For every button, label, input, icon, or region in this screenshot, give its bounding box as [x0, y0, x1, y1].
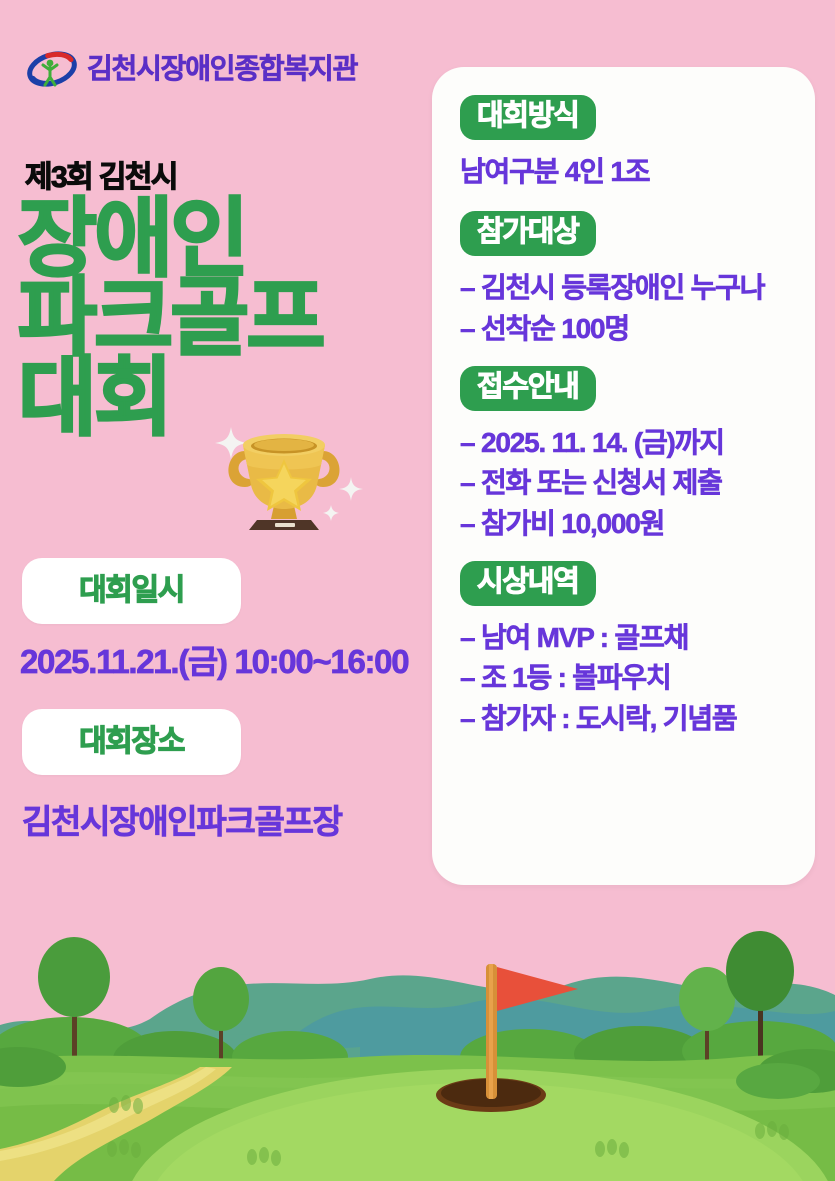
detail-line: – 참가자 : 도시락, 기념품 — [460, 699, 815, 739]
event-venue-label-box: 대회장소 — [22, 709, 241, 775]
page-title: 장애인 파크골프 대회 — [18, 198, 418, 440]
trophy-icon — [205, 405, 365, 530]
section-eligibility-badge: 참가대상 — [460, 211, 596, 256]
event-datetime-value: 2025.11.21.(금) 10:00~16:00 — [20, 645, 408, 678]
event-venue-label: 대회장소 — [79, 727, 184, 757]
event-datetime-label-box: 대회일시 — [22, 558, 241, 624]
event-venue-value: 김천시장애인파크골프장 — [22, 805, 342, 838]
section-eligibility-lines: – 김천시 등록장애인 누구나 – 선착순 100명 — [460, 268, 815, 349]
section-registration-lines: – 2025. 11. 14. (금)까지 – 전화 또는 신청서 제출 – 참… — [460, 423, 815, 544]
title-kicker: 제3회 김천시 — [25, 163, 177, 193]
section-format-lines: 남여구분 4인 1조 — [460, 152, 815, 192]
detail-line: – 선착순 100명 — [460, 309, 815, 349]
golf-course-illustration — [0, 899, 835, 1181]
detail-line: 남여구분 4인 1조 — [460, 152, 815, 192]
organization-header: 김천시장애인종합복지관 — [26, 46, 357, 92]
detail-line: – 김천시 등록장애인 누구나 — [460, 268, 815, 308]
event-datetime-label: 대회일시 — [79, 576, 184, 606]
detail-line: – 전화 또는 신청서 제출 — [460, 463, 815, 503]
section-prizes: 시상내역 – 남여 MVP : 골프채 – 조 1등 : 볼파우치 – 참가자 … — [460, 561, 815, 739]
details-card: 대회방식 남여구분 4인 1조 참가대상 – 김천시 등록장애인 누구나 – 선… — [432, 67, 815, 885]
poster-root: 김천시장애인종합복지관 제3회 김천시 장애인 파크골프 대회 — [0, 0, 835, 1181]
detail-line: – 조 1등 : 볼파우치 — [460, 658, 815, 698]
section-format: 대회방식 남여구분 4인 1조 — [460, 95, 815, 192]
welfare-center-emblem-icon — [26, 46, 78, 92]
title-line-2: 파크골프 — [18, 277, 418, 360]
section-eligibility: 참가대상 – 김천시 등록장애인 누구나 – 선착순 100명 — [460, 211, 815, 349]
detail-line: – 2025. 11. 14. (금)까지 — [460, 423, 815, 463]
detail-line: – 참가비 10,000원 — [460, 504, 815, 544]
section-prizes-badge: 시상내역 — [460, 561, 596, 606]
section-prizes-lines: – 남여 MVP : 골프채 – 조 1등 : 볼파우치 – 참가자 : 도시락… — [460, 618, 815, 739]
section-registration-badge: 접수안내 — [460, 366, 596, 411]
title-line-1: 장애인 — [18, 198, 418, 281]
detail-line: – 남여 MVP : 골프채 — [460, 618, 815, 658]
organization-name: 김천시장애인종합복지관 — [87, 55, 357, 83]
section-format-badge: 대회방식 — [460, 95, 596, 140]
section-registration: 접수안내 – 2025. 11. 14. (금)까지 – 전화 또는 신청서 제… — [460, 366, 815, 544]
